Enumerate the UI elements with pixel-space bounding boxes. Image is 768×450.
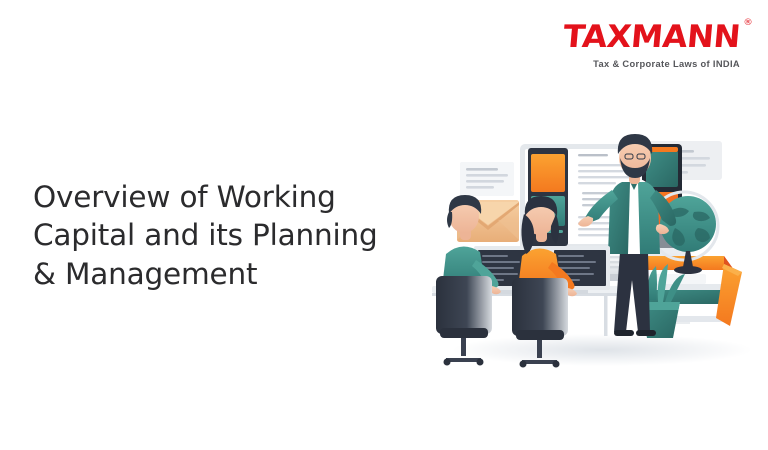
ground-shadow (452, 334, 752, 366)
brand-wordmark-text: TAXMANN (562, 19, 742, 55)
registered-trademark-icon: ® (744, 19, 753, 28)
online-training-illustration (432, 104, 756, 374)
brand-wordmark: TAXMANN ® (562, 22, 741, 53)
brand-tagline: Tax & Corporate Laws of INDIA (570, 60, 740, 69)
banner-root: TAXMANN ® Tax & Corporate Laws of INDIA … (0, 0, 768, 450)
note-card (460, 162, 514, 196)
page-title: Overview of Working Capital and its Plan… (33, 178, 433, 293)
brand-logo[interactable]: TAXMANN ® Tax & Corporate Laws of INDIA (570, 22, 740, 69)
